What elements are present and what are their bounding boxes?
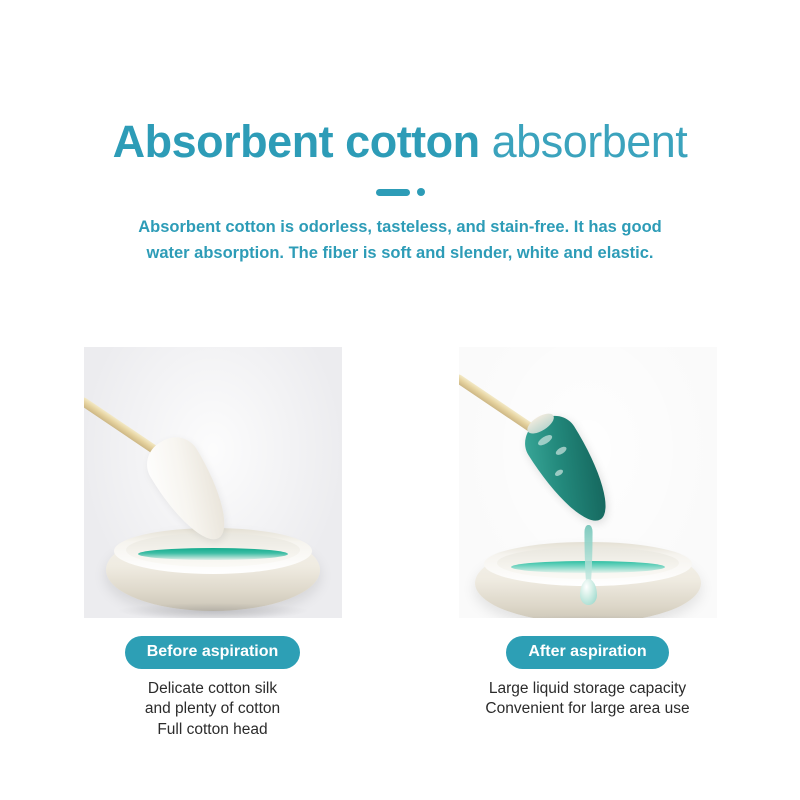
caption-line-2: Convenient for large area use: [441, 699, 735, 719]
divider-dot-icon: [417, 188, 425, 196]
badge-row-before: Before aspiration: [84, 636, 342, 669]
panel-after-aspiration: After aspiration Large liquid storage ca…: [459, 347, 717, 740]
caption-line-1: Delicate cotton silk: [84, 679, 342, 699]
green-liquid-icon: [138, 548, 288, 560]
dish-shadow: [118, 603, 308, 618]
divider-bar-icon: [376, 189, 410, 196]
page-title-light: absorbent: [492, 116, 688, 167]
caption-before-aspiration: Delicate cotton silk and plenty of cotto…: [84, 679, 342, 740]
badge-after-aspiration[interactable]: After aspiration: [506, 636, 668, 669]
badge-before-aspiration[interactable]: Before aspiration: [125, 636, 301, 669]
caption-after-aspiration: Large liquid storage capacity Convenient…: [441, 679, 735, 720]
badge-row-after: After aspiration: [459, 636, 717, 669]
title-divider: [0, 185, 800, 199]
caption-line-3: Full cotton head: [84, 720, 342, 740]
subtitle-line-1: Absorbent cotton is odorless, tasteless,…: [0, 215, 800, 241]
panel-before-aspiration: Before aspiration Delicate cotton silk a…: [84, 347, 342, 740]
page-subtitle: Absorbent cotton is odorless, tasteless,…: [0, 215, 800, 266]
page-header: Absorbent cotton absorbent Absorbent cot…: [0, 0, 800, 266]
caption-line-1: Large liquid storage capacity: [441, 679, 735, 699]
photo-before-aspiration: [84, 347, 342, 618]
subtitle-line-2: water absorption. The fiber is soft and …: [0, 241, 800, 267]
page-title: Absorbent cotton absorbent: [0, 118, 800, 165]
page-title-bold: Absorbent cotton: [113, 116, 480, 167]
caption-line-2: and plenty of cotton: [84, 699, 342, 719]
comparison-panels: Before aspiration Delicate cotton silk a…: [0, 347, 800, 740]
falling-droplet-icon: [580, 579, 597, 605]
photo-after-aspiration: [459, 347, 717, 618]
